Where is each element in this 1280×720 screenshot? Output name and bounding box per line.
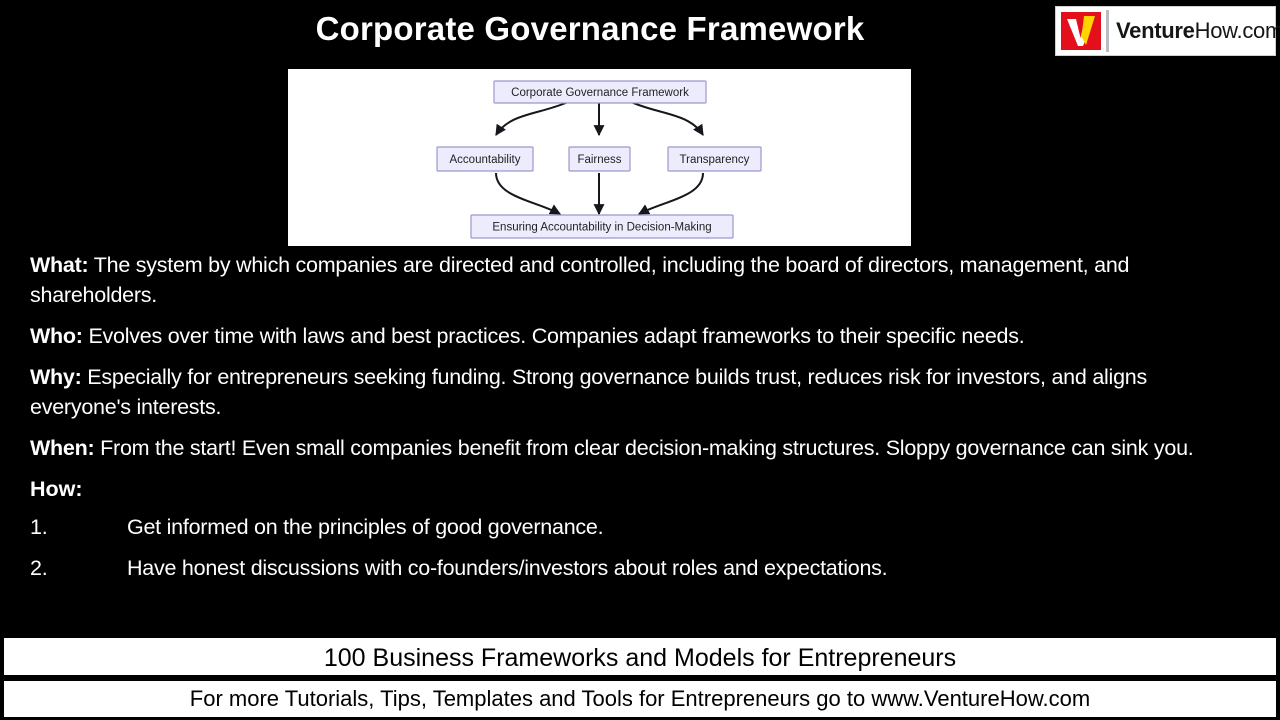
diagram-node-root: Corporate Governance Framework [494,81,706,103]
framework-diagram: Corporate Governance Framework Accountab… [288,69,911,246]
paragraph-why-text: Especially for entrepreneurs seeking fun… [30,365,1147,419]
venturehow-logo[interactable]: VentureHow.com [1055,6,1276,56]
diagram-node-root-label: Corporate Governance Framework [511,87,689,99]
paragraph-who-lead: Who: [30,324,83,348]
paragraph-why-lead: Why: [30,365,82,389]
venturehow-v-mark-icon [1060,11,1102,51]
edge-accountability-result [496,173,560,214]
paragraph-who: Who: Evolves over time with laws and bes… [30,321,1252,351]
diagram-node-fairness-label: Fairness [577,154,621,166]
paragraph-when: When: From the start! Even small compani… [30,433,1252,463]
step-number: 2. [30,553,127,583]
slide-footer: 100 Business Frameworks and Models for E… [0,636,1280,720]
logo-wordmark-bold: Venture [1116,18,1195,43]
body-copy: What: The system by which companies are … [30,250,1252,594]
edge-root-accountability [496,102,568,135]
step-number: 1. [30,512,127,542]
diagram-node-accountability-label: Accountability [450,154,521,166]
diagram-node-transparency: Transparency [668,147,761,171]
paragraph-why: Why: Especially for entrepreneurs seekin… [30,362,1252,422]
logo-divider [1106,10,1109,52]
page-title: Corporate Governance Framework [0,10,1180,48]
paragraph-what-lead: What: [30,253,88,277]
step-text: Have honest discussions with co-founders… [127,553,1252,583]
footer-series-title: 100 Business Frameworks and Models for E… [4,638,1276,678]
diagram-node-result: Ensuring Accountability in Decision-Maki… [471,215,733,238]
list-item: 2. Have honest discussions with co-found… [30,553,1252,583]
how-label: How: [30,474,1252,504]
list-item: 1. Get informed on the principles of goo… [30,512,1252,542]
logo-wordmark-rest: How.com [1195,18,1280,43]
logo-wordmark: VentureHow.com [1116,18,1280,44]
diagram-node-transparency-label: Transparency [680,154,750,166]
paragraph-what-text: The system by which companies are direct… [30,253,1129,307]
edge-transparency-result [639,173,703,214]
diagram-node-result-label: Ensuring Accountability in Decision-Maki… [492,222,711,234]
diagram-node-fairness: Fairness [569,147,630,171]
paragraph-when-text: From the start! Even small companies ben… [94,436,1193,460]
diagram-node-accountability: Accountability [437,147,533,171]
paragraph-who-text: Evolves over time with laws and best pra… [83,324,1025,348]
step-text: Get informed on the principles of good g… [127,512,1252,542]
footer-promo-line: For more Tutorials, Tips, Templates and … [4,681,1276,717]
paragraph-what: What: The system by which companies are … [30,250,1252,310]
edge-root-transparency [631,102,703,135]
paragraph-when-lead: When: [30,436,94,460]
